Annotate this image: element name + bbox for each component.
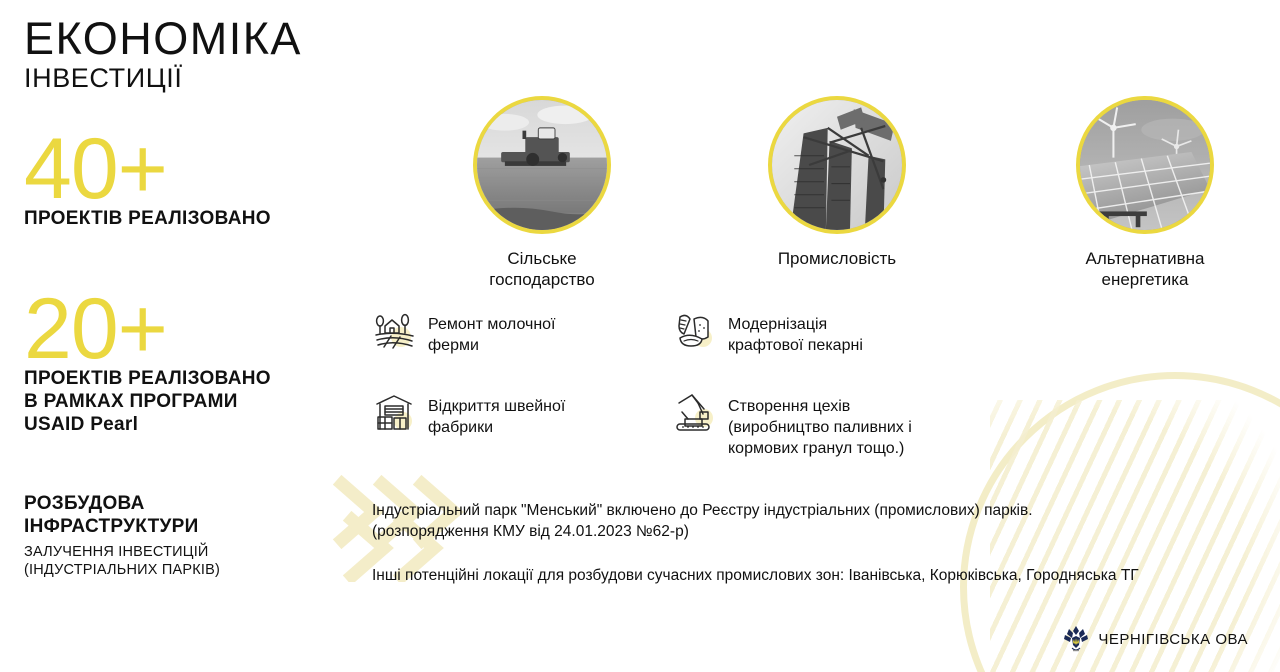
stat-usaid-pearl-projects: 20+ ПРОЕКТІВ РЕАЛІЗОВАНО В РАМКАХ ПРОГРА… xyxy=(24,296,271,437)
stat-caption: ПРОЕКТІВ РЕАЛІЗОВАНО xyxy=(24,207,271,230)
sector-label: Промисловість xyxy=(737,248,937,269)
note-industrial-park-registry: Індустріальний парк "Менський" включено … xyxy=(372,500,1262,543)
sector-label: Альтернативна енергетика xyxy=(1045,248,1245,291)
stat-number: 20+ xyxy=(24,296,271,363)
note-potential-locations: Інші потенційні локації для розбудови су… xyxy=(372,565,1262,586)
combine-harvester-photo xyxy=(473,96,611,234)
list-item: Модернізація крафтової пекарні xyxy=(672,312,972,357)
list-item: Ремонт молочної ферми xyxy=(372,312,632,357)
list-item-label: Ремонт молочної ферми xyxy=(428,312,556,357)
bread-icon xyxy=(672,308,716,352)
sector-industry: Промисловість xyxy=(737,96,937,269)
sector-label: Сільське господарство xyxy=(442,248,642,291)
warehouse-icon xyxy=(372,390,416,434)
industrial-tower-photo xyxy=(768,96,906,234)
notes-group: Індустріальний парк "Менський" включено … xyxy=(372,500,1262,586)
stat-number: 40+ xyxy=(24,136,271,203)
footer-logo-label: ЧЕРНІГІВСЬКА ОВА xyxy=(1098,631,1248,648)
infrastructure-block: РОЗБУДОВА ІНФРАСТРУКТУРИ ЗАЛУЧЕННЯ ІНВЕС… xyxy=(24,492,334,580)
list-item: Відкриття швейної фабрики xyxy=(372,394,632,439)
sector-alternative-energy: Альтернативна енергетика xyxy=(1045,96,1245,291)
footer-logo: ЧЕРНІГІВСЬКА ОВА xyxy=(1063,624,1248,654)
stat-projects-realized: 40+ ПРОЕКТІВ РЕАЛІЗОВАНО xyxy=(24,136,271,230)
infrastructure-subtext: ЗАЛУЧЕННЯ ІНВЕСТИЦІЙ (ІНДУСТРІАЛЬНИХ ПАР… xyxy=(24,543,334,579)
page-title: ЕКОНОМІКА xyxy=(24,16,302,62)
slide-header: ЕКОНОМІКА ІНВЕСТИЦІЇ xyxy=(24,16,302,92)
list-item-label: Модернізація крафтової пекарні xyxy=(728,312,863,357)
sector-agriculture: Сільське господарство xyxy=(442,96,642,291)
infrastructure-heading: РОЗБУДОВА ІНФРАСТРУКТУРИ xyxy=(24,492,334,538)
stat-caption: ПРОЕКТІВ РЕАЛІЗОВАНО В РАМКАХ ПРОГРАМИ U… xyxy=(24,367,271,437)
list-item-label: Відкриття швейної фабрики xyxy=(428,394,565,439)
excavator-icon xyxy=(672,390,716,434)
list-item: Створення цехів (виробництво паливних і … xyxy=(672,394,982,459)
page-subtitle: ІНВЕСТИЦІЇ xyxy=(24,64,302,92)
slide-canvas: ЕКОНОМІКА ІНВЕСТИЦІЇ 40+ ПРОЕКТІВ РЕАЛІЗ… xyxy=(0,0,1280,672)
list-item-label: Створення цехів (виробництво паливних і … xyxy=(728,394,912,459)
farm-field-icon xyxy=(372,308,416,352)
coat-of-arms-icon xyxy=(1063,624,1089,654)
solar-wind-photo xyxy=(1076,96,1214,234)
sector-group: Сільське господарство xyxy=(400,96,1280,286)
